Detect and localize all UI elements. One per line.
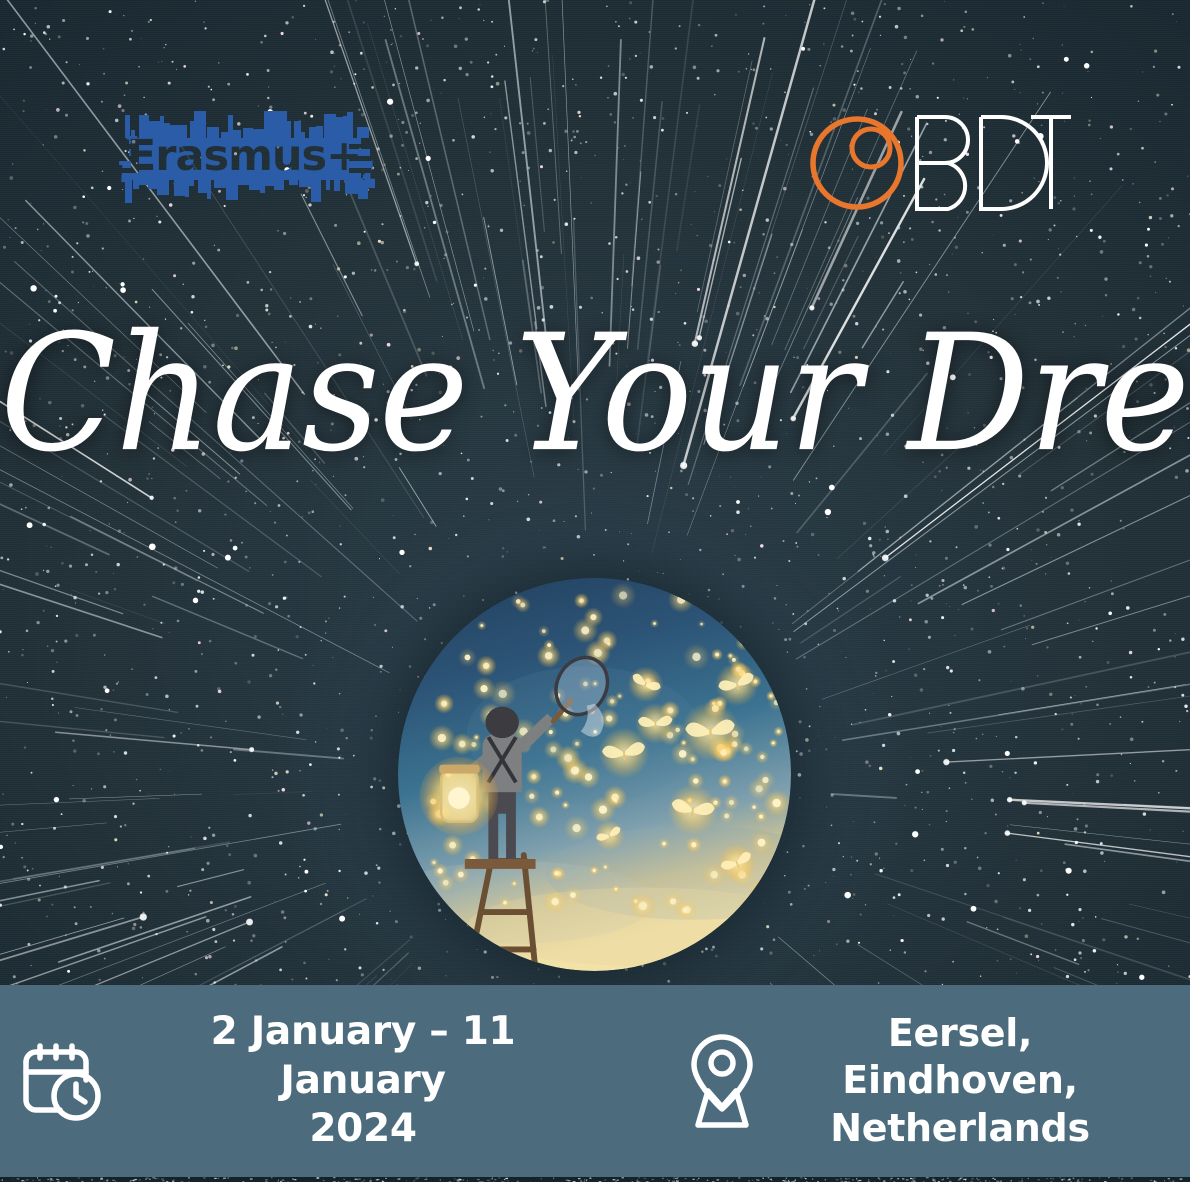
location-line-2: Eindhoven, <box>810 1057 1110 1104</box>
bdt-logo: BDT <box>805 108 1073 218</box>
date-line-1: 2 January – 11 January <box>128 1008 598 1105</box>
bottom-edge-strip <box>0 1177 1190 1182</box>
bdt-circle-mark <box>813 119 901 207</box>
poster-canvas: Erasmus+ Erasmus+ <box>0 0 1190 1182</box>
location-block: Eersel, Eindhoven, Netherlands <box>640 1010 1190 1151</box>
date-text: 2 January – 11 January 2024 <box>128 1008 598 1153</box>
dream-illustration <box>398 578 791 971</box>
erasmus-plus-logo: Erasmus+ Erasmus+ <box>113 108 375 206</box>
location-line-3: Netherlands <box>810 1105 1110 1152</box>
poster-title: Chase Your Dream <box>0 313 1190 474</box>
map-pin-icon <box>680 1029 764 1133</box>
date-block: 2 January – 11 January 2024 <box>0 1008 640 1153</box>
info-bar: 2 January – 11 January 2024 Eersel, Eind… <box>0 985 1190 1177</box>
date-line-2: 2024 <box>128 1105 598 1153</box>
location-text: Eersel, Eindhoven, Netherlands <box>810 1010 1110 1151</box>
calendar-clock-icon <box>14 1040 106 1122</box>
location-line-1: Eersel, <box>810 1010 1110 1057</box>
